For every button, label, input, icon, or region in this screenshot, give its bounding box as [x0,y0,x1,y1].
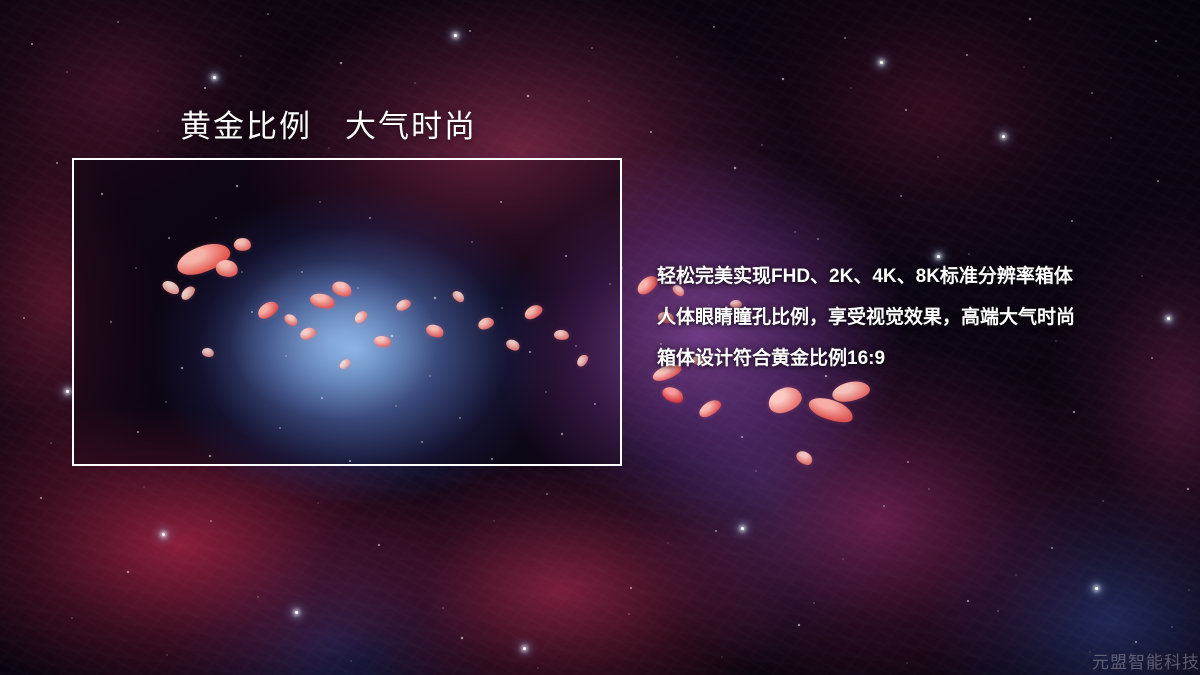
framed-petal [160,278,181,297]
bright-star [880,61,883,64]
framed-petal [299,326,317,340]
body-line-1: 轻松完美实现FHD、2K、4K、8K标准分辨率箱体 [657,256,1157,297]
bright-star [66,390,69,393]
framed-petal [395,298,413,313]
bright-star [741,527,744,530]
body-line-2: 人体眼睛瞳孔比例，享受视觉效果，高端大气时尚 [657,297,1157,338]
bright-star [1002,135,1005,138]
framed-petal [282,312,299,329]
framed-petal [553,329,570,342]
framed-petal [308,290,336,311]
framed-petal [575,353,591,369]
framed-petal [477,316,495,331]
framed-petal [173,239,233,279]
body-line-3: 箱体设计符合黄金比例16:9 [657,338,1157,379]
watermark-text: 元盟智能科技 [1092,648,1200,673]
bright-star [454,34,457,37]
framed-petal [233,237,252,253]
framed-petal [451,289,466,305]
framed-image-panel[interactable] [72,158,622,466]
framed-petal [424,322,445,341]
presentation-slide: 黄金比例 大气时尚 轻松完美实现FHD、2K、4K、8K标准分辨率箱体 人体眼睛… [0,0,1200,675]
bright-star [295,611,298,614]
framed-petal [338,358,352,371]
bright-star [1095,587,1098,590]
framed-petal [522,303,544,322]
framed-petal [330,278,354,300]
floating-petal [660,383,686,406]
framed-petal [255,299,281,322]
framed-petal [352,309,369,325]
floating-petal [765,384,804,416]
framed-image-content [74,160,620,464]
slide-title: 黄金比例 大气时尚 [180,101,477,146]
framed-petal [179,284,198,302]
framed-petal [504,337,521,353]
bright-star [162,533,165,536]
body-text-block: 轻松完美实现FHD、2K、4K、8K标准分辨率箱体 人体眼睛瞳孔比例，享受视觉效… [657,256,1157,379]
framed-petal [201,346,215,359]
floating-petal [794,448,815,468]
panel-petals-layer [74,160,620,464]
floating-petal [806,392,856,428]
framed-petal [373,334,392,349]
framed-petal [214,257,240,280]
bright-star [213,76,216,79]
bright-star [523,647,526,650]
floating-petal [831,379,871,403]
bright-star [1167,317,1170,320]
floating-petal [696,397,723,420]
